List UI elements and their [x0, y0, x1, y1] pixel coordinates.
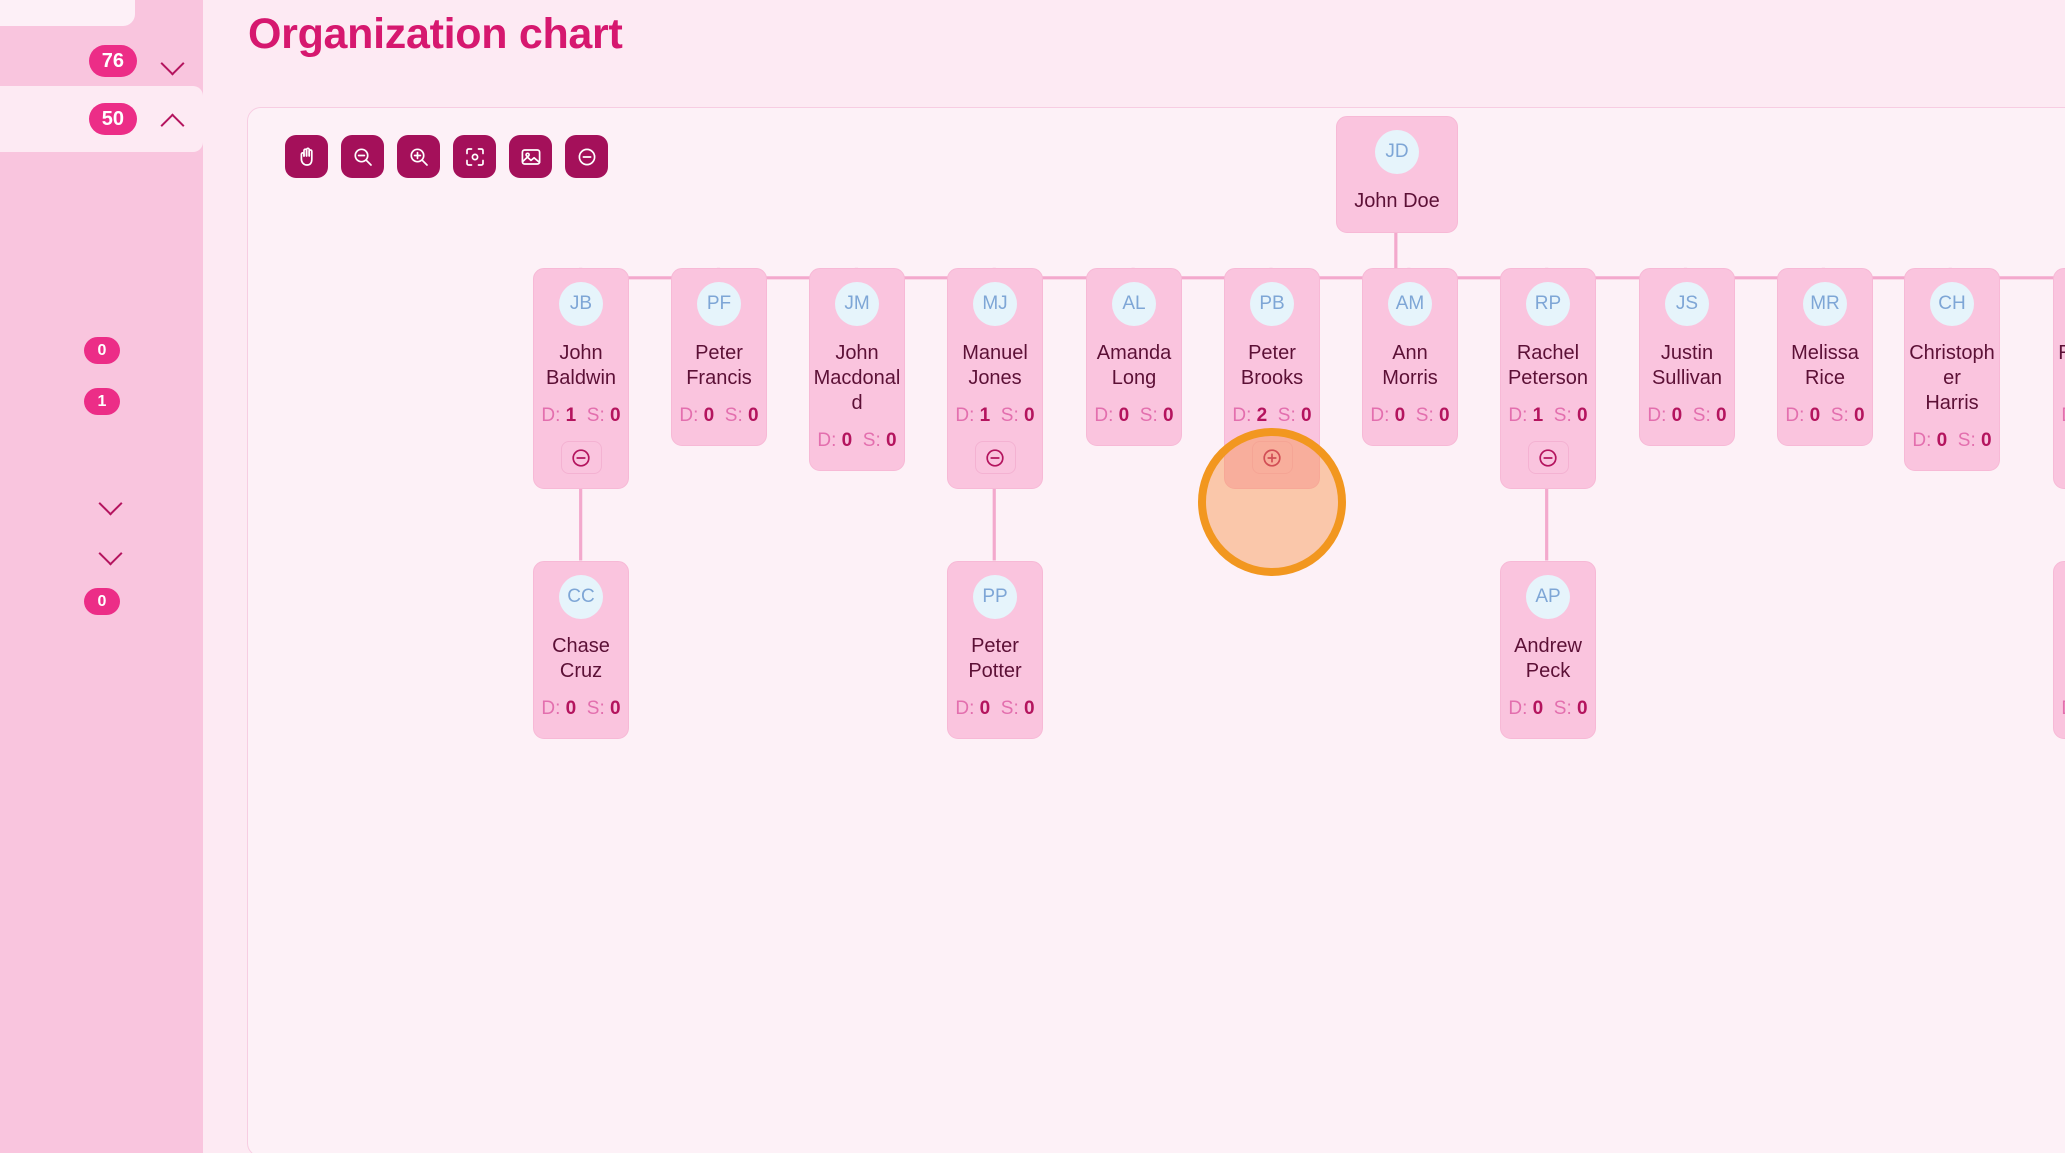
collapse-node-button[interactable] [1528, 441, 1569, 474]
avatar: JM [835, 282, 879, 326]
node-name: John Doe [1337, 189, 1457, 214]
node-name: ChaseCruz [534, 634, 628, 684]
expand-node-button[interactable] [1252, 441, 1293, 474]
avatar: JD [1375, 130, 1419, 174]
chevron-down-icon[interactable] [159, 47, 187, 75]
avatar: AM [1388, 282, 1432, 326]
node-stats: D: 0 S: 0 [1785, 405, 1864, 427]
node-name: PeterBrooks [1225, 341, 1319, 391]
node-stats: D: 1 S: 0 [955, 405, 1034, 427]
node-name: JohnBaldwin [534, 341, 628, 391]
node-stats: D: 1 S: 0 [541, 405, 620, 427]
sidebar: 76 50 ns 0 1 0 [0, 0, 203, 1153]
sidebar-row-0[interactable]: 76 [0, 28, 203, 94]
org-node-rp[interactable]: RPRachelPetersonD: 1 S: 0 [1500, 268, 1596, 489]
sidebar-badge-0: 76 [89, 45, 137, 77]
avatar: CH [1930, 282, 1974, 326]
avatar: PF [697, 282, 741, 326]
collapse-node-button[interactable] [561, 441, 602, 474]
node-stats: D: 0 S: 0 [1647, 405, 1726, 427]
org-node-ch[interactable]: CHChristopherHarrisD: 0 S: 0 [1904, 268, 2000, 471]
avatar: MR [1803, 282, 1847, 326]
node-stats: D: 0 S: 0 [1508, 698, 1587, 720]
fit-screen-icon[interactable] [453, 135, 496, 178]
org-node-jd[interactable]: JDJohn Doe [1336, 116, 1458, 233]
org-node-pb[interactable]: PBPeterBrooksD: 2 S: 0 [1224, 268, 1320, 489]
node-stats: D: 0 S: 0 [679, 405, 758, 427]
node-name: JustinSullivan [1640, 341, 1734, 391]
zoom-in-icon[interactable] [397, 135, 440, 178]
sidebar-count-badge-0: 0 [84, 337, 120, 364]
main-content: Organization chart [203, 0, 2065, 1153]
sidebar-top-panel [0, 0, 135, 26]
org-node-jm[interactable]: JMJohnMacdonaldD: 0 S: 0 [809, 268, 905, 471]
org-node-jb[interactable]: JBJohnBaldwinD: 1 S: 0 [533, 268, 629, 489]
pan-hand-icon[interactable] [285, 135, 328, 178]
node-stats: D: 1 S: 0 [1508, 405, 1587, 427]
org-node-js[interactable]: JSJustinSullivanD: 0 S: 0 [1639, 268, 1735, 446]
node-stats: D: 0 S: 0 [541, 698, 620, 720]
org-node-rb[interactable]: RBRaymondBoydD: 1 S: 0 [2053, 268, 2065, 489]
collapse-all-icon[interactable] [565, 135, 608, 178]
avatar: JB [559, 282, 603, 326]
avatar: AP [1526, 575, 1570, 619]
avatar: AL [1112, 282, 1156, 326]
node-stats: D: 2 S: 0 [1232, 405, 1311, 427]
avatar: RP [1526, 282, 1570, 326]
node-stats: D: 0 S: 0 [1094, 405, 1173, 427]
node-stats: D: 0 S: 0 [955, 698, 1034, 720]
node-name: AmandaLong [1087, 341, 1181, 391]
node-name: ChristopherHarris [1905, 341, 1999, 416]
export-image-icon[interactable] [509, 135, 552, 178]
sidebar-chevron-down-icon-3[interactable] [97, 537, 125, 565]
sidebar-row-1[interactable]: 50 [0, 86, 203, 152]
collapse-node-button[interactable] [975, 441, 1016, 474]
org-chart-panel: JDJohn DoeJBJohnBaldwinD: 1 S: 0PFPeterF… [247, 107, 2065, 1153]
avatar: PB [1250, 282, 1294, 326]
node-stats: D: 0 S: 0 [1370, 405, 1449, 427]
node-name: JohnMacdonald [810, 341, 904, 416]
node-stats: D: 0 S: 0 [2061, 698, 2065, 720]
node-name: AndrewPeck [1501, 634, 1595, 684]
sidebar-count-badge-2: 0 [84, 588, 120, 615]
chevron-up-icon[interactable] [159, 105, 187, 133]
org-node-mr[interactable]: MRMelissaRiceD: 0 S: 0 [1777, 268, 1873, 446]
sidebar-count-badge-1: 1 [84, 388, 120, 415]
node-name: PeterPotter [948, 634, 1042, 684]
zoom-out-icon[interactable] [341, 135, 384, 178]
page-title: Organization chart [248, 10, 622, 59]
avatar: JS [1665, 282, 1709, 326]
node-name: AprilPatrick [2054, 634, 2065, 684]
node-stats: D: 0 S: 0 [1912, 430, 1991, 452]
node-stats: D: 0 S: 0 [817, 430, 896, 452]
node-name: AnnMorris [1363, 341, 1457, 391]
node-name: ManuelJones [948, 341, 1042, 391]
avatar: PP [973, 575, 1017, 619]
sidebar-chevron-down-icon-2[interactable] [97, 487, 125, 515]
avatar: MJ [973, 282, 1017, 326]
org-node-pf[interactable]: PFPeterFrancisD: 0 S: 0 [671, 268, 767, 446]
org-node-ap2[interactable]: APAprilPatrickD: 0 S: 0 [2053, 561, 2065, 739]
chart-toolbar [285, 135, 608, 178]
org-node-cc[interactable]: CCChaseCruzD: 0 S: 0 [533, 561, 629, 739]
node-stats: D: 1 S: 0 [2061, 405, 2065, 427]
connector-lines [248, 108, 2065, 1153]
org-node-ap1[interactable]: APAndrewPeckD: 0 S: 0 [1500, 561, 1596, 739]
app-root: 76 50 ns 0 1 0 Organization chart [0, 0, 2065, 1153]
node-name: RaymondBoyd [2054, 341, 2065, 391]
node-name: MelissaRice [1778, 341, 1872, 391]
org-node-pp[interactable]: PPPeterPotterD: 0 S: 0 [947, 561, 1043, 739]
node-name: RachelPeterson [1501, 341, 1595, 391]
org-node-al[interactable]: ALAmandaLongD: 0 S: 0 [1086, 268, 1182, 446]
sidebar-badge-1: 50 [89, 103, 137, 135]
org-node-am[interactable]: AMAnnMorrisD: 0 S: 0 [1362, 268, 1458, 446]
node-name: PeterFrancis [672, 341, 766, 391]
avatar: CC [559, 575, 603, 619]
org-node-mj[interactable]: MJManuelJonesD: 1 S: 0 [947, 268, 1043, 489]
